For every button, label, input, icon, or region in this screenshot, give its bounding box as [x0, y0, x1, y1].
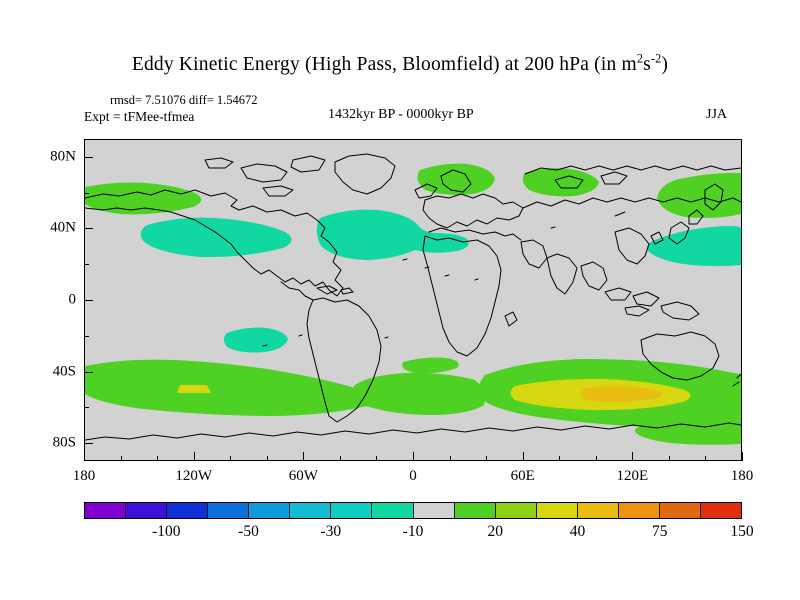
colorbar-label-5: 40	[570, 523, 586, 541]
colorbar-label-0: -100	[152, 523, 180, 541]
x-tick--80	[267, 456, 268, 461]
colorbar-cell-1[interactable]	[126, 503, 167, 518]
x-tick--160	[121, 456, 122, 461]
shade-british-isles-green	[417, 164, 495, 195]
x-tick--20	[376, 456, 377, 461]
colorbar-cell-10[interactable]	[496, 503, 537, 518]
colorbar-cell-8[interactable]	[414, 503, 455, 518]
y-tick--60	[84, 407, 89, 408]
x-tick-120	[632, 452, 633, 461]
y-tick-0	[84, 300, 93, 301]
x-tick-20	[450, 456, 451, 461]
x-axis-label-5: 120E	[616, 468, 648, 485]
colorbar-cell-7[interactable]	[372, 503, 413, 518]
y-tick-80	[84, 157, 93, 158]
x-axis-label-3: 0	[409, 468, 417, 485]
y-axis-label-2: 0	[32, 292, 76, 309]
y-axis-label-0: 80N	[32, 148, 76, 165]
season-annotation: JJA	[706, 107, 727, 123]
y-tick--40	[84, 372, 93, 373]
experiment-annotation: Expt = tFMee-tfmea	[84, 109, 194, 125]
colorbar-cell-0[interactable]	[85, 503, 126, 518]
colorbar-cell-15[interactable]	[701, 503, 741, 518]
x-tick-60	[523, 452, 524, 461]
colorbar-cell-5[interactable]	[290, 503, 331, 518]
colorbar-cell-4[interactable]	[249, 503, 290, 518]
x-tick-140	[669, 456, 670, 461]
title-exponent-2: -2	[651, 52, 661, 66]
x-axis-label-1: 120W	[175, 468, 212, 485]
colorbar-cell-6[interactable]	[331, 503, 372, 518]
rmsd-annotation: rmsd= 7.51076 diff= 1.54672	[110, 93, 258, 108]
y-tick--80	[84, 443, 93, 444]
x-tick-40	[486, 456, 487, 461]
x-axis-label-0: 180	[73, 468, 96, 485]
x-tick--120	[194, 452, 195, 461]
x-tick--100	[230, 456, 231, 461]
colorbar[interactable]	[84, 502, 742, 519]
colorbar-label-2: -30	[320, 523, 341, 541]
x-axis-label-4: 60E	[511, 468, 535, 485]
colorbar-label-7: 150	[730, 523, 753, 541]
y-tick-20	[84, 264, 89, 265]
title-text-after: )	[661, 54, 668, 75]
y-axis-label-1: 40N	[32, 220, 76, 237]
x-tick--40	[340, 456, 341, 461]
colorbar-label-4: 20	[488, 523, 504, 541]
y-tick-60	[84, 193, 89, 194]
x-tick-160	[705, 456, 706, 461]
colorbar-cell-9[interactable]	[455, 503, 496, 518]
period-annotation: 1432kyr BP - 0000kyr BP	[328, 107, 474, 123]
x-tick--180	[84, 452, 85, 461]
x-axis-label-2: 60W	[289, 468, 318, 485]
x-tick--60	[303, 452, 304, 461]
colorbar-cell-11[interactable]	[537, 503, 578, 518]
x-axis-label-6: 180	[731, 468, 754, 485]
y-axis-label-4: 80S	[32, 435, 76, 452]
colorbar-label-1: -50	[238, 523, 259, 541]
page-title: Eddy Kinetic Energy (High Pass, Bloomfie…	[0, 54, 800, 76]
y-tick-40	[84, 228, 93, 229]
colorbar-label-6: 75	[652, 523, 668, 541]
y-axis-label-3: 40S	[32, 363, 76, 380]
title-text-mid: s	[643, 54, 651, 75]
shade-south-pacific-yellow-core	[177, 385, 211, 393]
colorbar-cell-2[interactable]	[167, 503, 208, 518]
colorbar-cell-12[interactable]	[578, 503, 619, 518]
map-canvas	[85, 140, 741, 460]
title-text-before: Eddy Kinetic Energy (High Pass, Bloomfie…	[132, 54, 637, 75]
x-tick-100	[596, 456, 597, 461]
x-tick-80	[559, 456, 560, 461]
colorbar-cell-13[interactable]	[619, 503, 660, 518]
x-tick--140	[157, 456, 158, 461]
colorbar-cell-14[interactable]	[660, 503, 701, 518]
map-plot-area[interactable]	[84, 139, 742, 461]
colorbar-cell-3[interactable]	[208, 503, 249, 518]
x-tick-180	[742, 452, 743, 461]
x-tick-0	[413, 452, 414, 461]
y-tick--20	[84, 336, 89, 337]
colorbar-label-3: -10	[403, 523, 424, 541]
